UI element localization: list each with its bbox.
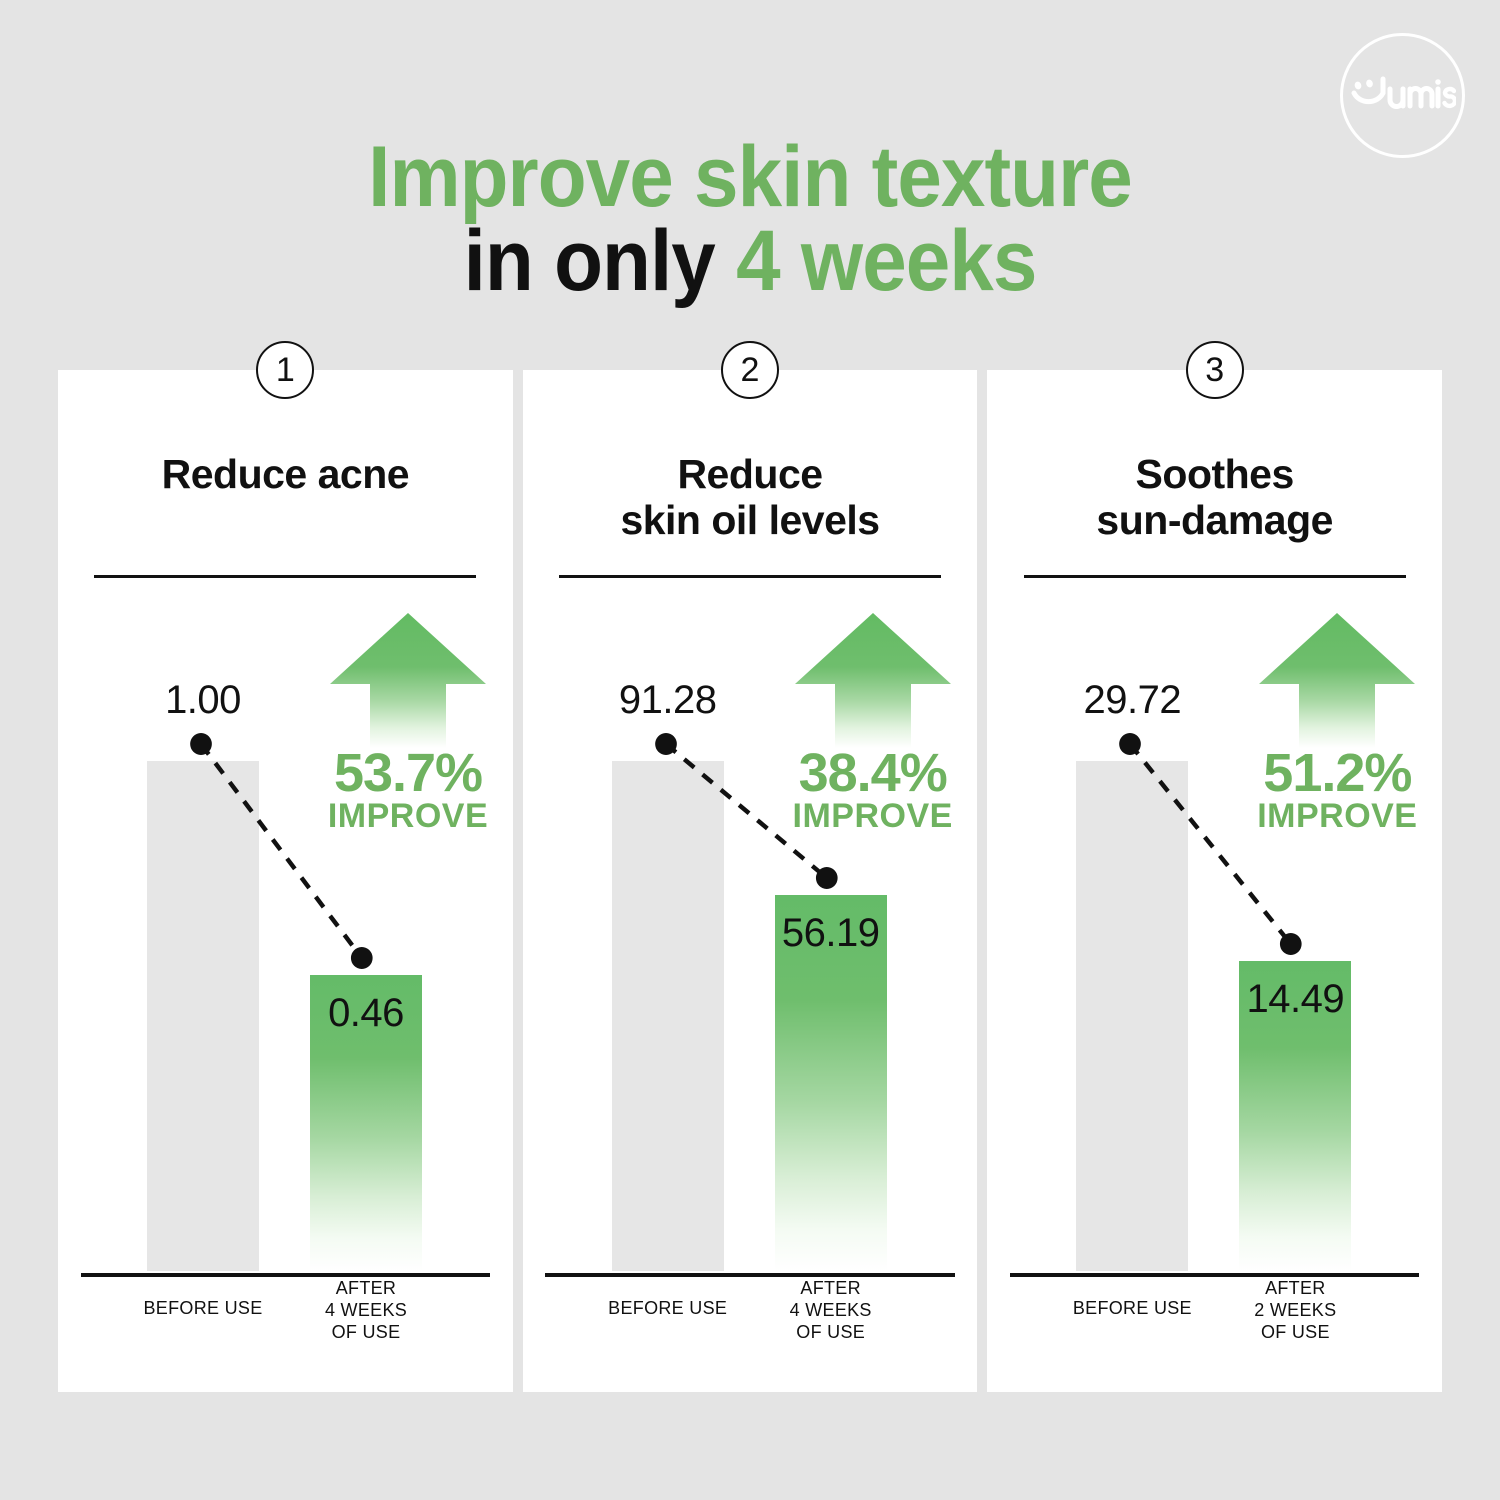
- panel-3-improve-percent: 51.2%: [1237, 748, 1437, 799]
- panel-1-before-value: 1.00: [127, 678, 279, 723]
- panel-3-title: Soothes sun-damage: [987, 452, 1442, 544]
- title-line-2: in only 4 weeks: [53, 222, 1448, 302]
- panel-2-title: Reduce skin oil levels: [523, 452, 978, 544]
- panel-1-improve-block: 53.7% IMPROVE: [308, 608, 508, 833]
- panel-3-axis-after: AFTER 2 WEEKS OF USE: [1219, 1278, 1371, 1344]
- up-arrow-icon: [328, 608, 488, 750]
- panel-3-improve-label: IMPROVE: [1237, 799, 1437, 833]
- panel-3-improve-block: 51.2% IMPROVE: [1237, 608, 1437, 833]
- panel-1-improve-percent: 53.7%: [308, 748, 508, 799]
- panel-1-baseline: [81, 1273, 490, 1277]
- panel-3-number-badge: 3: [1186, 341, 1244, 399]
- jumiso-wordmark-icon: [1350, 73, 1456, 119]
- panel-1-number-badge: 1: [256, 341, 314, 399]
- panel-2-baseline: [545, 1273, 954, 1277]
- panel-2-after-value: 56.19: [755, 911, 907, 956]
- panel-2-divider: [559, 575, 941, 578]
- panel-3-axis-before: BEFORE USE: [1056, 1298, 1208, 1320]
- panel-1-connector: [58, 370, 513, 1392]
- panel-2-improve-percent: 38.4%: [773, 748, 973, 799]
- panel-3-baseline: [1010, 1273, 1419, 1277]
- stat-panel-2: 2 Reduce skin oil levels 38.4% IMPROVE: [523, 370, 978, 1392]
- panel-3-before-value: 29.72: [1056, 678, 1208, 723]
- panel-1-axis-after: AFTER 4 WEEKS OF USE: [290, 1278, 442, 1344]
- up-arrow-icon: [793, 608, 953, 750]
- panel-2-before-value: 91.28: [592, 678, 744, 723]
- panel-2-improve-label: IMPROVE: [773, 799, 973, 833]
- panel-2-bar-before: [612, 761, 724, 1271]
- panel-1-axis-before: BEFORE USE: [127, 1298, 279, 1320]
- panel-1-bar-before: [147, 761, 259, 1271]
- panel-1-divider: [94, 575, 476, 578]
- panel-3-after-value: 14.49: [1219, 977, 1371, 1022]
- stats-card: 1 Reduce acne 53.7% IMPROVE: [58, 370, 1442, 1392]
- panel-3-divider: [1024, 575, 1406, 578]
- title-line-2-highlight: 4 weeks: [736, 213, 1036, 309]
- panel-1-title: Reduce acne: [58, 452, 513, 498]
- up-arrow-icon: [1257, 608, 1417, 750]
- panel-2-improve-block: 38.4% IMPROVE: [773, 608, 973, 833]
- panel-2-axis-after: AFTER 4 WEEKS OF USE: [755, 1278, 907, 1344]
- stat-panel-1: 1 Reduce acne 53.7% IMPROVE: [58, 370, 513, 1392]
- title-line-1: Improve skin texture: [53, 138, 1448, 218]
- panel-1-after-value: 0.46: [290, 991, 442, 1036]
- title-line-2-plain: in only: [464, 213, 736, 309]
- panel-3-bar-before: [1076, 761, 1188, 1271]
- page-title: Improve skin texture in only 4 weeks: [0, 138, 1500, 302]
- panel-2-axis-before: BEFORE USE: [592, 1298, 744, 1320]
- panel-2-number-badge: 2: [721, 341, 779, 399]
- panel-1-improve-label: IMPROVE: [308, 799, 508, 833]
- stat-panel-3: 3 Soothes sun-damage 51.2% IMPROVE: [987, 370, 1442, 1392]
